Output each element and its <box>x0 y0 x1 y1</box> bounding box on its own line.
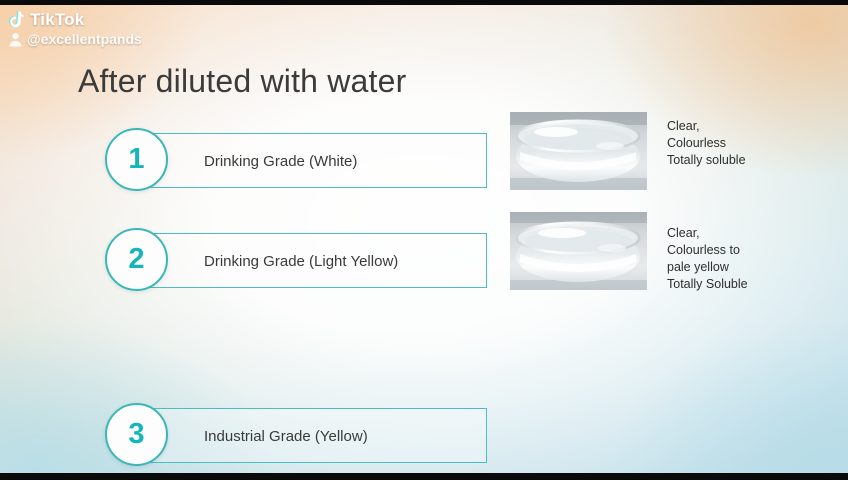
person-icon <box>8 32 23 47</box>
grade-number-1: 1 <box>128 145 144 174</box>
grade-number-3: 3 <box>128 420 144 449</box>
tiktok-username-row: @excellentpands <box>8 31 142 47</box>
grade-number-2: 2 <box>128 245 144 274</box>
grade-note-1: Clear, Colourless Totally soluble <box>667 118 746 169</box>
grade-number-badge-3: 3 <box>105 403 168 466</box>
grade-label-3: Industrial Grade (Yellow) <box>204 404 368 469</box>
grade-label-box-3: Industrial Grade (Yellow) <box>135 408 487 463</box>
grade-number-badge-2: 2 <box>105 228 168 291</box>
page-title: After diluted with water <box>78 63 407 100</box>
letterbox-bar-bottom <box>0 473 848 480</box>
petri-dish-photo-1 <box>510 112 647 190</box>
music-note-icon <box>8 11 25 30</box>
video-player-stage: TikTok @excellentpands After diluted wit… <box>0 0 848 480</box>
tiktok-username: @excellentpands <box>27 31 142 47</box>
tiktok-brand: TikTok <box>8 10 142 30</box>
grade-label-2: Drinking Grade (Light Yellow) <box>204 229 398 294</box>
grade-number-badge-1: 1 <box>105 128 168 191</box>
tiktok-watermark: TikTok @excellentpands <box>8 10 142 47</box>
grade-label-1: Drinking Grade (White) <box>204 129 357 194</box>
petri-dish-photo-2 <box>510 212 647 290</box>
grade-label-box-1: Drinking Grade (White) <box>135 133 487 188</box>
letterbox-bar-top <box>0 0 848 5</box>
grade-note-2: Clear, Colourless to pale yellow Totally… <box>667 225 748 293</box>
grade-label-box-2: Drinking Grade (Light Yellow) <box>135 233 487 288</box>
tiktok-wordmark: TikTok <box>30 10 84 30</box>
